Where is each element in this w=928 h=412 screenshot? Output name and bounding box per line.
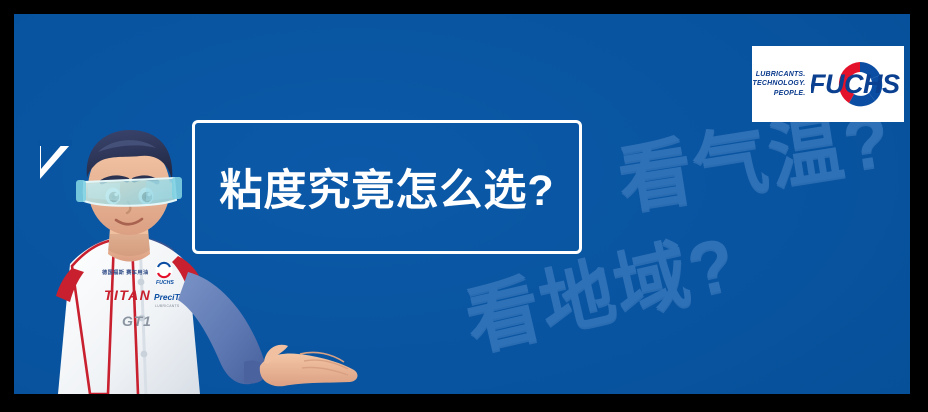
speech-bubble-tail-inner (41, 142, 64, 169)
banner-frame: 看气温? 看地域? (0, 0, 928, 412)
fuchs-tagline-line-1: LUBRICANTS. (756, 70, 806, 79)
goggles (76, 177, 182, 206)
svg-text:LUBRICANTS: LUBRICANTS (155, 304, 180, 308)
character-arm (178, 272, 357, 386)
fuchs-logo: LUBRICANTS. TECHNOLOGY. PEOPLE. (753, 57, 904, 111)
speech-bubble-text: 粘度究竟怎么选? (195, 123, 579, 251)
speech-bubble: 粘度究竟怎么选? (192, 120, 582, 254)
banner-stage: 看气温? 看地域? (14, 14, 910, 394)
svg-text:TITAN: TITAN (104, 287, 151, 303)
svg-text:FUCHS: FUCHS (156, 280, 174, 286)
svg-text:GT1: GT1 (122, 313, 152, 329)
svg-text:德国福斯 赛车用油: 德国福斯 赛车用油 (102, 268, 149, 276)
fuchs-tagline-line-3: PEOPLE. (774, 89, 806, 98)
fuchs-tagline: LUBRICANTS. TECHNOLOGY. PEOPLE. (753, 70, 806, 98)
fuchs-logo-card: LUBRICANTS. TECHNOLOGY. PEOPLE. (752, 46, 904, 122)
character-head (76, 130, 182, 235)
fuchs-wordmark-text: FUCHS (811, 69, 900, 99)
fuchs-wordmark-mark: FUCHS (811, 57, 903, 111)
fuchs-tagline-line-2: TECHNOLOGY. (753, 79, 806, 88)
speech-bubble-tail-patch (38, 140, 72, 146)
